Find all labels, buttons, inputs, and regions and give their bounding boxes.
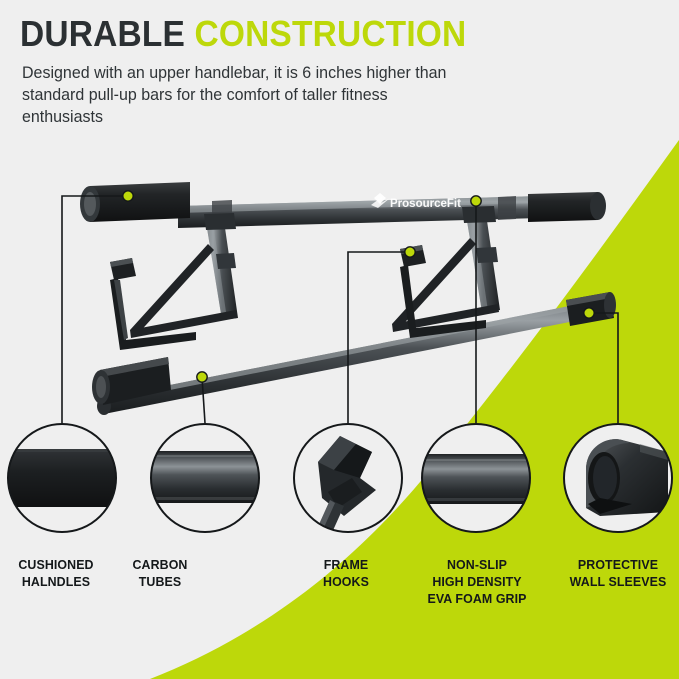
label-line: EVA FOAM GRIP bbox=[404, 590, 551, 607]
callout-label-frame-hooks: FRAME HOOKS bbox=[291, 556, 400, 590]
label-line: CARBON bbox=[102, 556, 219, 573]
callout-labels: CUSHIONED HALNDLES CARBON TUBES FRAME HO… bbox=[0, 556, 679, 646]
callout-label-eva-foam-grip: NON-SLIP HIGH DENSITY EVA FOAM GRIP bbox=[404, 556, 551, 607]
detail-circle-carbon-tubes bbox=[145, 424, 275, 532]
detail-circle-wall-sleeves bbox=[564, 424, 672, 532]
label-line: WALL SLEEVES bbox=[552, 573, 679, 590]
callout-label-wall-sleeves: PROTECTIVE WALL SLEEVES bbox=[552, 556, 679, 590]
detail-circle-eva-foam-grip bbox=[416, 424, 546, 532]
callout-label-cushioned-handles: CUSHIONED HALNDLES bbox=[0, 556, 114, 590]
infographic-root: DURABLE CONSTRUCTION Designed with an up… bbox=[0, 0, 679, 679]
label-line: PROTECTIVE bbox=[552, 556, 679, 573]
detail-circle-cushioned-handles bbox=[0, 424, 130, 532]
label-line: HIGH DENSITY bbox=[404, 573, 551, 590]
label-line: FRAME bbox=[291, 556, 400, 573]
callout-label-carbon-tubes: CARBON TUBES bbox=[102, 556, 219, 590]
label-line: HOOKS bbox=[291, 573, 400, 590]
label-line: TUBES bbox=[102, 573, 219, 590]
label-line: NON-SLIP bbox=[404, 556, 551, 573]
label-line: CUSHIONED bbox=[0, 556, 114, 573]
detail-circle-frame-hooks bbox=[294, 424, 402, 546]
label-line: HALNDLES bbox=[0, 573, 114, 590]
